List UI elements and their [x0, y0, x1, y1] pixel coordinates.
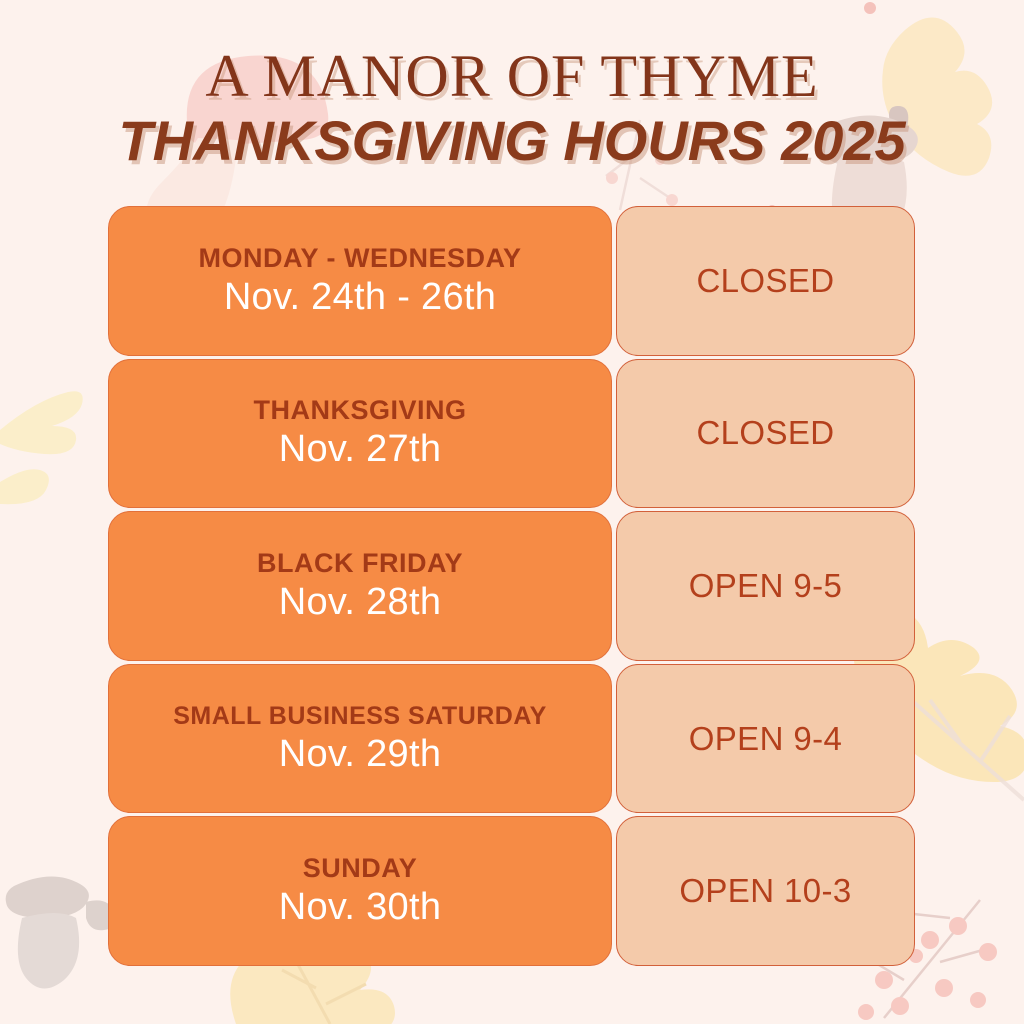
day-card: SMALL BUSINESS SATURDAY Nov. 29th [108, 664, 612, 814]
date-label: Nov. 28th [279, 581, 442, 624]
hours-card: CLOSED [616, 206, 915, 356]
table-row: BLACK FRIDAY Nov. 28th OPEN 9-5 [108, 511, 915, 661]
hours-card: OPEN 10-3 [616, 816, 915, 966]
hours-table: MONDAY - WEDNESDAY Nov. 24th - 26th CLOS… [108, 206, 915, 966]
day-card: MONDAY - WEDNESDAY Nov. 24th - 26th [108, 206, 612, 356]
hours-label: OPEN 9-4 [689, 720, 843, 758]
hours-label: CLOSED [696, 262, 834, 300]
page-title: A MANOR OF THYME THANKSGIVING HOURS 2025 [0, 46, 1024, 172]
day-label: THANKSGIVING [253, 395, 466, 426]
table-row: SUNDAY Nov. 30th OPEN 10-3 [108, 816, 915, 966]
business-name: A MANOR OF THYME [0, 46, 1024, 107]
table-row: SMALL BUSINESS SATURDAY Nov. 29th OPEN 9… [108, 664, 915, 814]
hours-card: OPEN 9-5 [616, 511, 915, 661]
date-label: Nov. 30th [279, 886, 442, 929]
day-label: MONDAY - WEDNESDAY [198, 243, 521, 274]
day-card: SUNDAY Nov. 30th [108, 816, 612, 966]
date-label: Nov. 24th - 26th [224, 276, 496, 319]
table-row: THANKSGIVING Nov. 27th CLOSED [108, 359, 915, 509]
hours-card: CLOSED [616, 359, 915, 509]
hours-label: CLOSED [696, 414, 834, 452]
day-label: SUNDAY [303, 853, 418, 884]
date-label: Nov. 27th [279, 428, 442, 471]
hours-label: OPEN 10-3 [679, 872, 851, 910]
day-label: SMALL BUSINESS SATURDAY [173, 702, 547, 731]
day-card: THANKSGIVING Nov. 27th [108, 359, 612, 509]
day-card: BLACK FRIDAY Nov. 28th [108, 511, 612, 661]
table-row: MONDAY - WEDNESDAY Nov. 24th - 26th CLOS… [108, 206, 915, 356]
page-subtitle: THANKSGIVING HOURS 2025 [0, 111, 1024, 171]
hours-card: OPEN 9-4 [616, 664, 915, 814]
day-label: BLACK FRIDAY [257, 548, 463, 579]
hours-label: OPEN 9-5 [689, 567, 843, 605]
date-label: Nov. 29th [279, 733, 442, 776]
